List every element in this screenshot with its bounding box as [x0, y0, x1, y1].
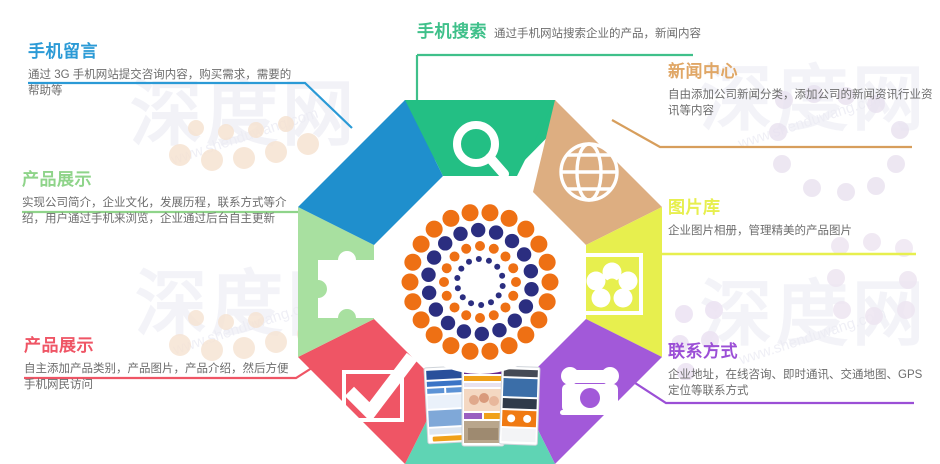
callout-mobile-search[interactable]: 手机搜索 通过手机网站搜索企业的产品，新闻内容: [417, 22, 817, 42]
callout-description: 通过 3G 手机网站提交咨询内容，购买需求，需要的帮助等: [28, 67, 293, 99]
callout-description: 自主添加产品类别，产品图片，产品介绍，然后方便手机网民访问: [24, 361, 289, 393]
callout-mobile-message[interactable]: 手机留言 通过 3G 手机网站提交咨询内容，购买需求，需要的帮助等: [28, 42, 293, 99]
callout-news-center[interactable]: 新闻中心 自由添加公司新闻分类，添加公司的新闻资讯行业资讯等内容: [668, 62, 936, 119]
callout-title: 联系方式: [668, 342, 936, 362]
callout-title: 产品展示: [22, 170, 302, 190]
callout-description: 自由添加公司新闻分类，添加公司的新闻资讯行业资讯等内容: [668, 87, 936, 119]
callout-title: 图片库: [668, 198, 936, 218]
decorative-dot-pattern: [820, 230, 940, 340]
callout-description: 企业地址，在线咨询、即时通讯、交通地图、GPS 定位等联系方式: [668, 367, 936, 399]
center-emblem: [388, 190, 572, 374]
puzzle-piece-icon: [318, 251, 385, 318]
callout-product-display-red[interactable]: 产品展示 自主添加产品类别，产品图片，产品介绍，然后方便手机网民访问: [24, 336, 289, 393]
callout-contact-method[interactable]: 联系方式 企业地址，在线咨询、即时通讯、交通地图、GPS 定位等联系方式: [668, 342, 936, 399]
callout-title: 产品展示: [24, 336, 289, 356]
callout-title: 新闻中心: [668, 62, 936, 82]
callout-description: 通过手机网站搜索企业的产品，新闻内容: [494, 26, 701, 42]
callout-description: 企业图片相册，管理精美的产品图片: [668, 223, 936, 239]
callout-product-display-green[interactable]: 产品展示 实现公司简介，企业文化，发展历程，联系方式等介绍，用户通过手机来浏览，…: [22, 170, 302, 227]
callout-title: 手机留言: [28, 42, 293, 62]
telephone-icon: [560, 367, 620, 415]
octagon-wheel: [298, 100, 662, 464]
callout-description: 实现公司简介，企业文化，发展历程，联系方式等介绍，用户通过手机来浏览，企业通过后…: [22, 195, 302, 227]
infographic-canvas: 深度网 www.shenduwang.com 深度网 www.shenduwan…: [0, 0, 940, 463]
callout-title: 手机搜索: [417, 22, 487, 42]
callout-image-gallery[interactable]: 图片库 企业图片相册，管理精美的产品图片: [668, 198, 936, 239]
